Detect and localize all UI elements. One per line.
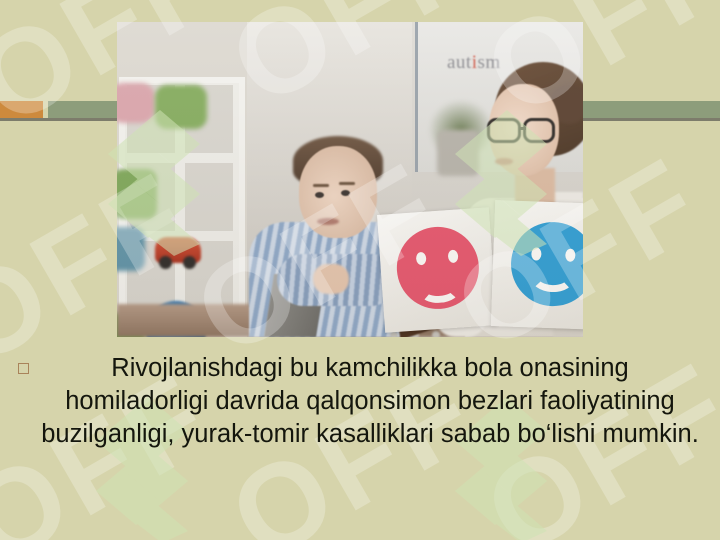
slide-body-text: Rivojlanishdagi bu kamchilikka bola onas… [18, 352, 702, 451]
bullet-paragraph: Rivojlanishdagi bu kamchilikka bola onas… [18, 352, 702, 451]
presentation-slide: autism OFF OFF OFF OFF OFF OFF OFF OFF O… [0, 0, 720, 540]
orange-accent-block [0, 101, 43, 118]
slide-photo: autism [117, 22, 583, 337]
accent-gap [43, 99, 48, 120]
photo-overlay-haze [117, 22, 583, 337]
bullet-square-icon [18, 363, 29, 374]
paragraph-text: Rivojlanishdagi bu kamchilikka bola onas… [38, 352, 702, 451]
